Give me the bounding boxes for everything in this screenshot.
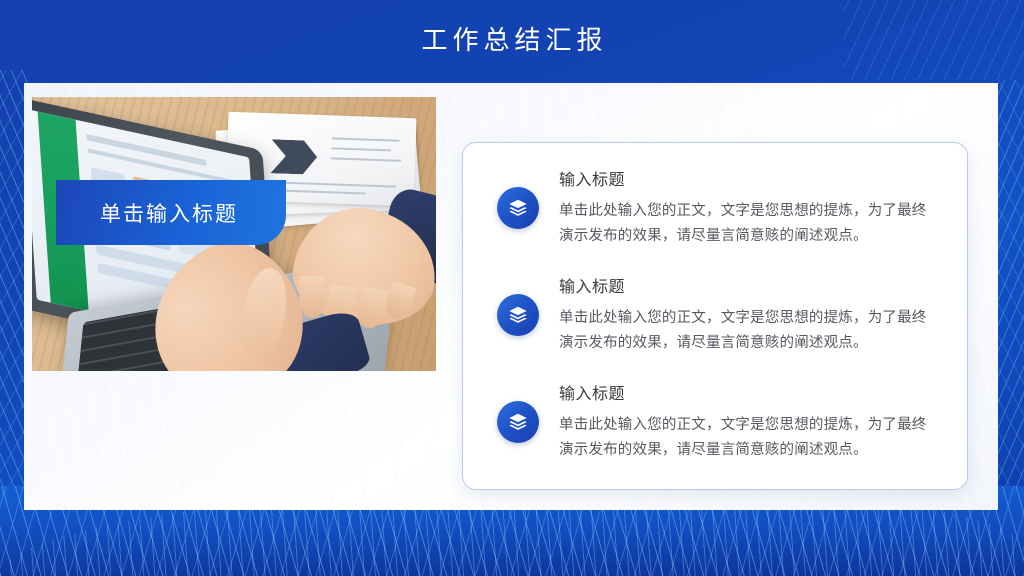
list-item-title: 输入标题 [559,276,937,300]
list-item-body: 输入标题 单击此处输入您的正文，文字是您思想的提炼，为了最终演示发布的效果，请尽… [559,274,937,356]
layers-icon [497,187,539,229]
list-item[interactable]: 输入标题 单击此处输入您的正文，文字是您思想的提炼，为了最终演示发布的效果，请尽… [497,167,937,249]
list-item-title: 输入标题 [559,169,937,193]
finger [299,276,325,318]
list-item-body: 输入标题 单击此处输入您的正文，文字是您思想的提炼，为了最终演示发布的效果，请尽… [559,167,937,249]
paper-chart-graphic [270,139,317,175]
list-item-title: 输入标题 [559,383,937,407]
bullet-list: 输入标题 单击此处输入您的正文，文字是您思想的提炼，为了最终演示发布的效果，请尽… [463,143,967,463]
list-item[interactable]: 输入标题 单击此处输入您的正文，文字是您思想的提炼，为了最终演示发布的效果，请尽… [497,274,937,356]
paper-text-line [332,137,400,141]
layers-icon [497,401,539,443]
finger [383,281,416,321]
paper-text-line [331,147,391,151]
slide-root: 工作总结汇报 [0,0,1024,576]
photo-title-label: 单击输入标题 [56,198,238,228]
mesh-pattern-right [998,80,1024,496]
list-item-text: 单击此处输入您的正文，文字是您思想的提炼，为了最终演示发布的效果，请尽量言简意赅… [559,306,937,356]
paper-text-line [331,157,401,161]
photo-title-ribbon: 单击输入标题 [56,180,286,245]
page-title: 工作总结汇报 [0,24,1024,58]
bullet-list-card: 输入标题 单击此处输入您的正文，文字是您思想的提炼，为了最终演示发布的效果，请尽… [462,142,968,490]
list-item-body: 输入标题 单击此处输入您的正文，文字是您思想的提炼，为了最终演示发布的效果，请尽… [559,381,937,463]
layers-icon [497,294,539,336]
list-item-text: 单击此处输入您的正文，文字是您思想的提炼，为了最终演示发布的效果，请尽量言简意赅… [559,413,937,463]
slide-header: 工作总结汇报 [0,0,1024,83]
list-item-text: 单击此处输入您的正文，文字是您思想的提炼，为了最终演示发布的效果，请尽量言简意赅… [559,199,937,249]
index-finger [236,265,293,359]
list-item[interactable]: 输入标题 单击此处输入您的正文，文字是您思想的提炼，为了最终演示发布的效果，请尽… [497,381,937,463]
